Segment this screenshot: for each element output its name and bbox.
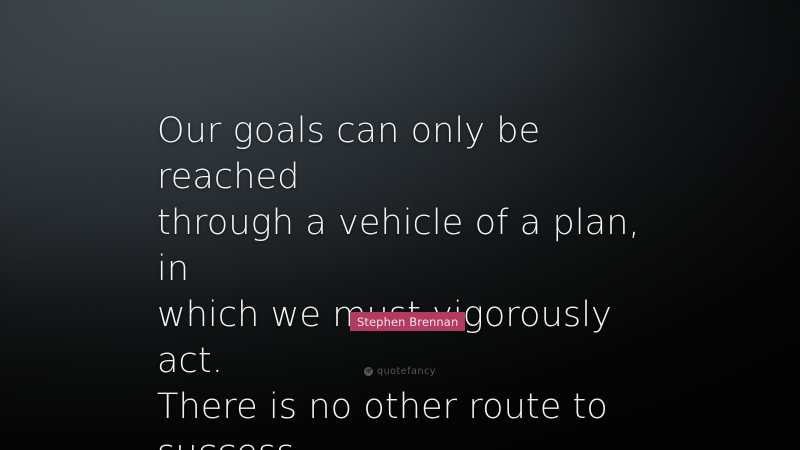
watermark: qf quotefancy: [0, 366, 800, 377]
quote-text: Our goals can only be reached through a …: [157, 108, 677, 450]
quotefancy-logo-glyph: qf: [366, 369, 371, 374]
author-name: Stephen Brennan: [357, 315, 458, 329]
author-badge: Stephen Brennan: [350, 312, 465, 331]
quote-image-canvas: Our goals can only be reached through a …: [0, 0, 800, 450]
watermark-brand-text: quotefancy: [377, 366, 436, 377]
quotefancy-logo-icon: qf: [364, 367, 373, 376]
content-layer: Our goals can only be reached through a …: [0, 0, 800, 450]
